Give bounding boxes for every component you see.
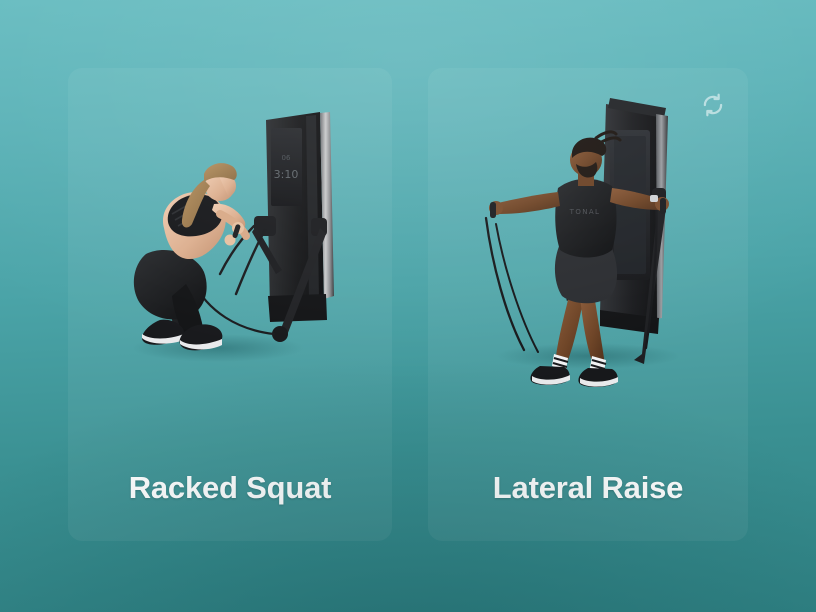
exercise-card-racked-squat[interactable]: 06 3:10 [68,68,392,541]
machine-body: 06 3:10 [252,112,334,342]
svg-text:TONAL: TONAL [569,208,601,216]
svg-text:3:10: 3:10 [274,168,299,181]
svg-text:06: 06 [282,154,291,162]
exercise-card-lateral-raise[interactable]: TONAL [428,68,748,541]
exercise-photo-racked-squat: 06 3:10 [68,68,392,468]
refresh-icon[interactable] [700,92,726,118]
exercise-title: Racked Squat [68,470,392,506]
exercise-photo-lateral-raise: TONAL [428,68,748,468]
exercise-title: Lateral Raise [428,470,748,506]
exercise-picker-screen: 06 3:10 [0,0,816,612]
